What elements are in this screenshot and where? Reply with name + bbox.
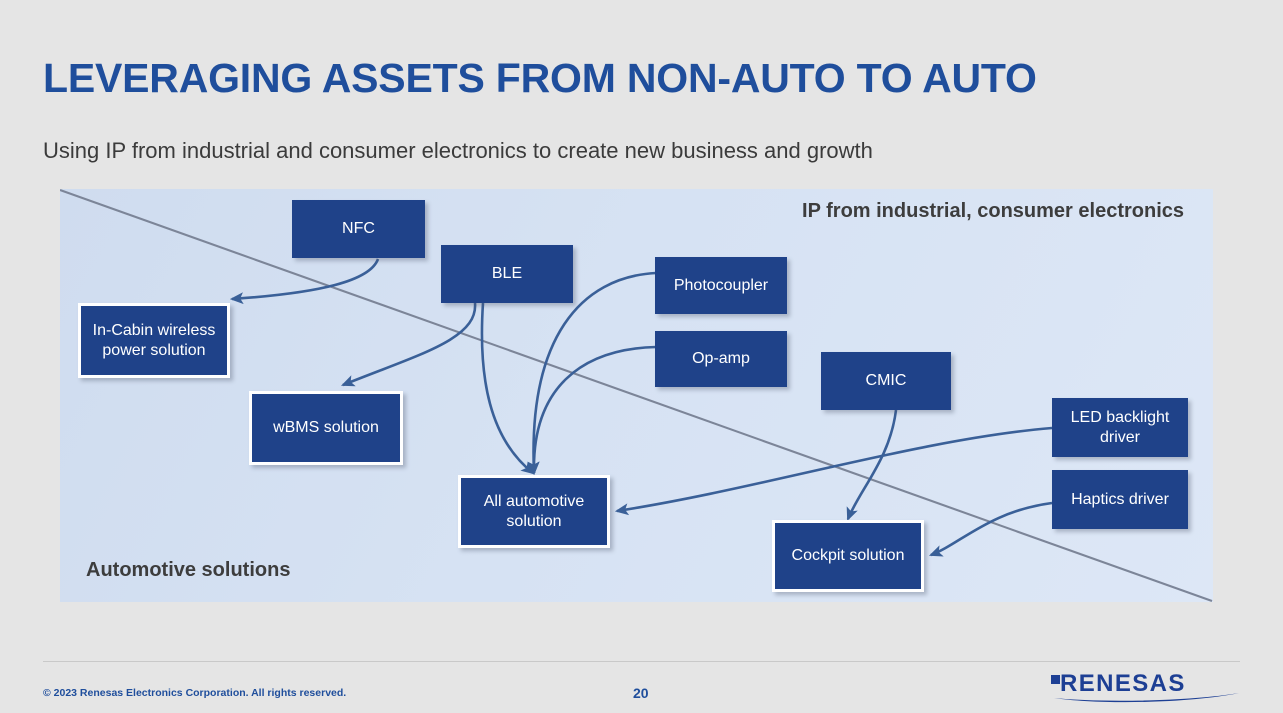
- node-ble[interactable]: BLE: [441, 245, 573, 303]
- diagram-connectors: [60, 189, 1213, 602]
- renesas-logo: RENESAS: [1051, 672, 1241, 706]
- divider-diagonal: [60, 190, 1212, 601]
- connector-photocoupler-allauto: [534, 273, 656, 473]
- renesas-logo-text: RENESAS: [1060, 672, 1186, 697]
- connector-led-allauto: [617, 428, 1052, 511]
- connector-cmic-cockpit: [848, 410, 896, 519]
- renesas-logo-mark: RENESAS: [1051, 672, 1241, 706]
- node-op-amp[interactable]: Op-amp: [655, 331, 787, 387]
- connector-nfc-incabin: [232, 259, 378, 299]
- node-haptics-driver[interactable]: Haptics driver: [1052, 470, 1188, 529]
- node-all-automotive-solution[interactable]: All automotive solution: [458, 475, 610, 548]
- node-photocoupler[interactable]: Photocoupler: [655, 257, 787, 314]
- page-subtitle: Using IP from industrial and consumer el…: [43, 138, 873, 164]
- node-nfc[interactable]: NFC: [292, 200, 425, 258]
- footer-page-number: 20: [633, 685, 649, 701]
- diagram-panel: IP from industrial, consumer electronics…: [60, 189, 1213, 602]
- node-led-backlight-driver[interactable]: LED backlight driver: [1052, 398, 1188, 457]
- region-label-automotive: Automotive solutions: [86, 559, 290, 582]
- page-title: LEVERAGING ASSETS FROM NON-AUTO TO AUTO: [43, 55, 1037, 102]
- node-in-cabin-wireless-power-solution[interactable]: In-Cabin wireless power solution: [78, 303, 230, 378]
- connector-haptics-cockpit: [931, 503, 1052, 555]
- footer-copyright: © 2023 Renesas Electronics Corporation. …: [43, 687, 346, 699]
- node-cockpit-solution[interactable]: Cockpit solution: [772, 520, 924, 592]
- slide: LEVERAGING ASSETS FROM NON-AUTO TO AUTO …: [0, 0, 1283, 713]
- connector-ble-allauto: [482, 303, 533, 473]
- node-wbms-solution[interactable]: wBMS solution: [249, 391, 403, 465]
- footer-divider: [43, 661, 1240, 662]
- region-label-ip: IP from industrial, consumer electronics: [802, 200, 1184, 223]
- node-cmic[interactable]: CMIC: [821, 352, 951, 410]
